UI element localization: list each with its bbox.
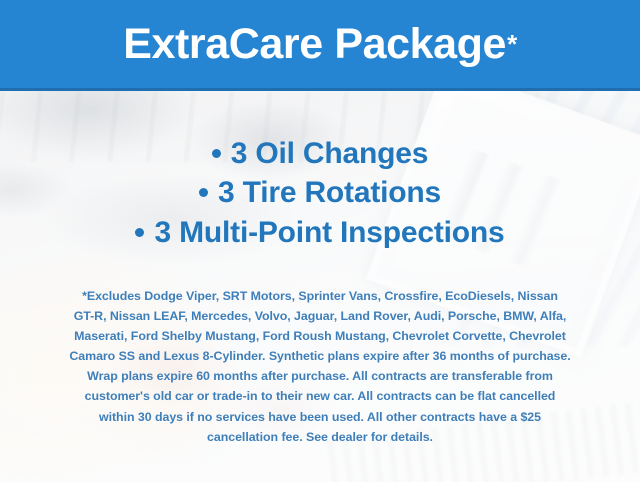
banner-bottom-edge (0, 88, 640, 91)
bullet-dot-icon (135, 228, 144, 237)
feature-label: 3 Tire Rotations (218, 173, 441, 212)
header-banner: ExtraCare Package* (0, 0, 640, 91)
disclaimer-line: GT-R, Nissan LEAF, Mercedes, Volvo, Jagu… (25, 306, 615, 326)
disclaimer-line: Wrap plans expire 60 months after purcha… (25, 366, 615, 386)
bullet-dot-icon (199, 188, 208, 197)
disclaimer-line: Camaro SS and Lexus 8-Cylinder. Syntheti… (25, 346, 615, 366)
disclaimer-line: within 30 days if no services have been … (25, 407, 615, 427)
feature-list: 3 Oil Changes 3 Tire Rotations 3 Multi-P… (0, 134, 640, 252)
list-item: 3 Tire Rotations (199, 173, 441, 212)
feature-label: 3 Oil Changes (231, 134, 428, 173)
list-item: 3 Multi-Point Inspections (135, 213, 504, 252)
disclaimer-line: Maserati, Ford Shelby Mustang, Ford Rous… (25, 326, 615, 346)
page-title-text: ExtraCare Package (123, 23, 506, 66)
asterisk-marker: * (507, 31, 517, 57)
disclaimer-text: *Excludes Dodge Viper, SRT Motors, Sprin… (25, 286, 615, 447)
feature-label: 3 Multi-Point Inspections (154, 213, 504, 252)
extracare-package-advertisement: ExtraCare Package* 3 Oil Changes 3 Tire … (0, 0, 640, 482)
disclaimer-line: customer's old car or trade-in to their … (25, 386, 615, 406)
list-item: 3 Oil Changes (212, 134, 428, 173)
disclaimer-line: *Excludes Dodge Viper, SRT Motors, Sprin… (25, 286, 615, 306)
disclaimer-line: cancellation fee. See dealer for details… (25, 427, 615, 447)
page-title: ExtraCare Package* (0, 0, 640, 88)
bullet-dot-icon (212, 149, 221, 158)
